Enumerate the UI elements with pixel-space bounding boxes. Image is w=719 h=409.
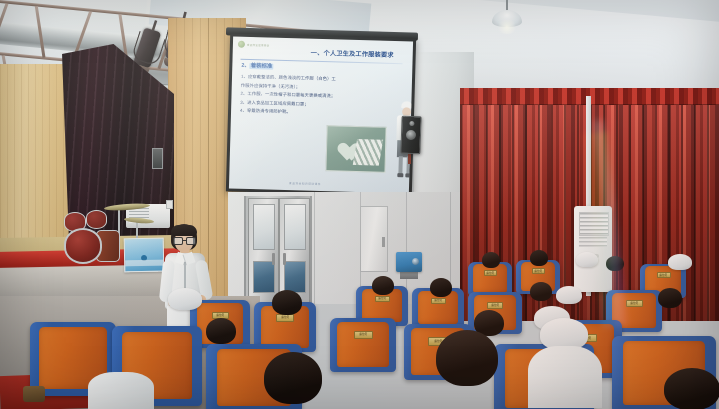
tom-drum bbox=[86, 210, 107, 229]
seat-number-plate: 座位号 bbox=[657, 272, 671, 278]
audience-head bbox=[430, 278, 452, 297]
speaker-woofer-icon bbox=[406, 130, 416, 140]
photo-stripes bbox=[353, 139, 383, 166]
seat-number-plate: 座位号 bbox=[354, 331, 373, 339]
seat-number-plate: 座位号 bbox=[431, 298, 447, 304]
audience-shoulder bbox=[528, 346, 602, 408]
cymbal-icon bbox=[104, 202, 150, 211]
audience-head bbox=[482, 252, 500, 268]
audience-head-foreground bbox=[264, 352, 322, 404]
kick-drum bbox=[64, 228, 102, 264]
projection-screen[interactable]: 食品安全宣传培训 一、个人卫生及工作服装要求 2、着装标准 1、应穿戴整洁的、颜… bbox=[226, 33, 416, 196]
seat-number-plate: 座位号 bbox=[532, 268, 545, 274]
slide-footer: 食品安全知识培训课件 bbox=[289, 181, 321, 186]
audience-head bbox=[606, 256, 624, 271]
pendant-lamp-icon bbox=[492, 0, 522, 40]
audience-head bbox=[206, 318, 236, 344]
door-leaf-left[interactable] bbox=[248, 198, 279, 304]
seat-number-plate: 座位号 bbox=[626, 300, 643, 307]
slide-subtitle-text: 着装标准 bbox=[250, 63, 274, 70]
audience-head bbox=[272, 290, 302, 315]
entrance-doors[interactable] bbox=[244, 196, 312, 304]
figure-shoe-right bbox=[405, 173, 411, 177]
audience-head bbox=[530, 250, 548, 266]
wall-switch bbox=[166, 200, 173, 209]
audience-head bbox=[372, 276, 394, 295]
wall-panel-plate bbox=[152, 148, 163, 169]
eyeglasses-icon bbox=[173, 237, 195, 243]
speaker-tweeter-icon bbox=[409, 121, 414, 126]
slide-hand-hygiene-photo bbox=[325, 125, 386, 173]
door-glass-upper bbox=[253, 204, 275, 250]
audience-head-foreground bbox=[436, 330, 498, 386]
figure-leg-left bbox=[398, 156, 403, 174]
audience-head bbox=[530, 282, 552, 301]
ac-vent-upper bbox=[579, 212, 609, 236]
audience-head-foreground bbox=[664, 368, 719, 409]
seat-armrest bbox=[23, 386, 45, 402]
side-door-handle[interactable] bbox=[382, 237, 385, 247]
audience-head bbox=[658, 288, 682, 308]
presentation-slide: 食品安全宣传培训 一、个人卫生及工作服装要求 2、着装标准 1、应穿戴整洁的、颜… bbox=[229, 37, 413, 194]
photo-scene: 食品安全宣传培训 一、个人卫生及工作服装要求 2、着装标准 1、应穿戴整洁的、颜… bbox=[0, 0, 719, 409]
floor-air-conditioner bbox=[574, 206, 612, 292]
audience-white-cap bbox=[576, 252, 598, 267]
door-glass-upper bbox=[284, 204, 306, 250]
seat-number-plate: 座位号 bbox=[484, 270, 497, 276]
wall-speaker bbox=[400, 116, 421, 155]
slide-subtitle: 2、着装标准 bbox=[241, 61, 273, 70]
heart-hands-icon bbox=[333, 135, 356, 156]
door-glass-lower bbox=[284, 261, 306, 293]
slide-logo-text: 食品安全宣传培训 bbox=[247, 42, 269, 47]
door-handle-left[interactable] bbox=[272, 253, 275, 265]
seat-number-plate: 座位号 bbox=[375, 296, 391, 302]
projector-unit bbox=[396, 252, 422, 272]
presenter-bangs bbox=[171, 225, 197, 236]
audience-white-cap bbox=[168, 288, 202, 310]
audience-white-cap bbox=[668, 254, 692, 270]
seat[interactable]: 座位号 bbox=[330, 318, 396, 372]
door-leaf-right[interactable] bbox=[279, 198, 310, 304]
ac-vent-lower bbox=[579, 237, 607, 247]
slide-logo: 食品安全宣传培训 bbox=[238, 41, 270, 49]
door-handle-right[interactable] bbox=[283, 253, 286, 265]
door-glass-lower bbox=[253, 261, 275, 293]
figure-shoe-left bbox=[397, 173, 403, 177]
audience-shoulder bbox=[88, 372, 154, 409]
slide-title: 一、个人卫生及工作服装要求 bbox=[311, 48, 394, 59]
cymbal-icon bbox=[124, 217, 154, 225]
side-door[interactable] bbox=[360, 206, 388, 272]
slide-bullet-list: 1、应穿戴整洁的、颜色浅淡的工作服（白色）工 作服外应保持干净（无污渍）； 2、… bbox=[240, 73, 363, 119]
projector-lens-icon bbox=[412, 258, 419, 265]
logo-mark-icon bbox=[238, 41, 245, 48]
seat-number-plate: 座位号 bbox=[276, 314, 294, 322]
seat-number-plate: 座位号 bbox=[487, 302, 503, 309]
audience-white-cap bbox=[556, 286, 582, 304]
screen-surface: 食品安全宣传培训 一、个人卫生及工作服装要求 2、着装标准 1、应穿戴整洁的、颜… bbox=[229, 37, 413, 194]
